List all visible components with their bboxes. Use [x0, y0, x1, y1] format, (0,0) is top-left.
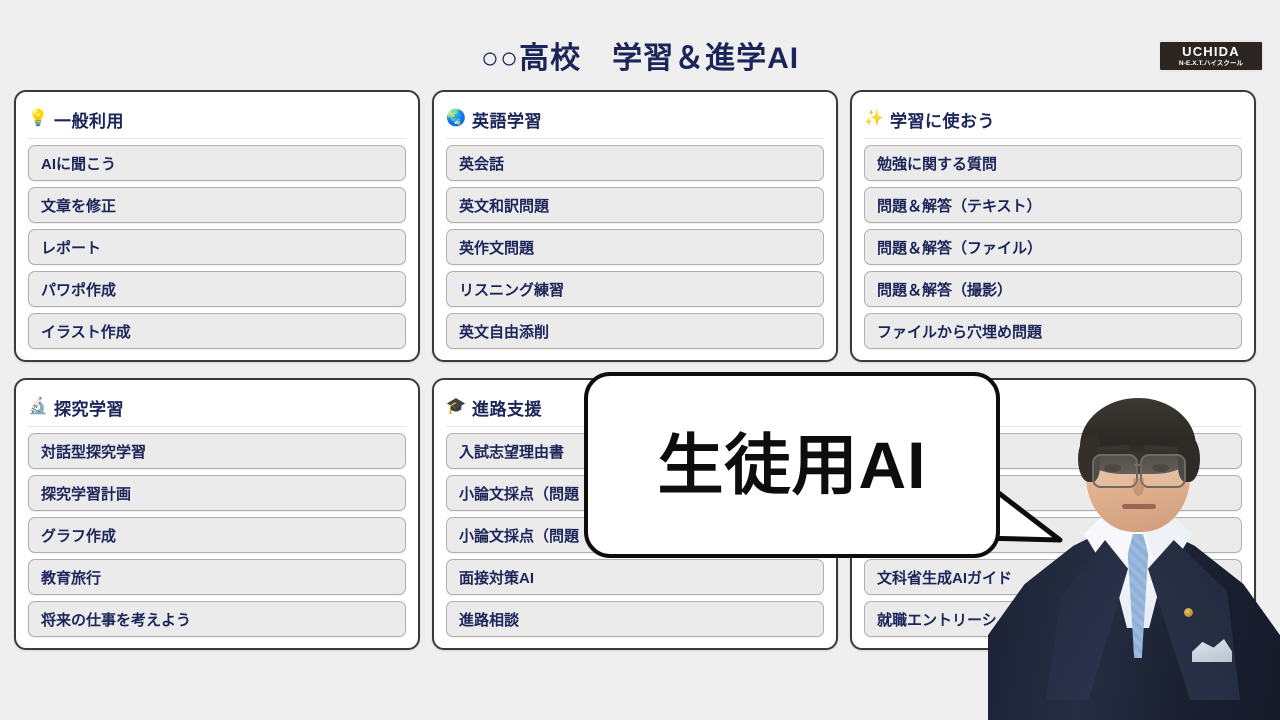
lightbulb-icon: 💡	[28, 111, 46, 127]
menu-item[interactable]: 問題＆解答（ファイル）	[864, 229, 1242, 265]
graduation-cap-icon: 🎓	[446, 399, 464, 415]
lapel-pin	[1184, 608, 1193, 617]
card-header: 🔬 探究学習	[28, 388, 406, 427]
menu-item[interactable]: 入試志望理由書	[446, 433, 824, 469]
menu-item[interactable]: パワポ作成	[28, 271, 406, 307]
page-header: ○○高校 学習＆進学AI UCHIDA N-E.X.T.ハイスクール	[0, 0, 1280, 90]
card-item-list: 勉強に関する質問 問題＆解答（テキスト） 問題＆解答（ファイル） 問題＆解答（撮…	[864, 145, 1242, 349]
menu-item[interactable]: リスニング練習	[446, 271, 824, 307]
card-title: ラシー	[890, 395, 942, 420]
uchida-logo: UCHIDA N-E.X.T.ハイスクール	[1158, 40, 1264, 72]
logo-main-text: UCHIDA	[1182, 45, 1240, 58]
eyeglasses-bridge	[1134, 464, 1142, 466]
card-header: 🌏 英語学習	[446, 100, 824, 139]
menu-item[interactable]: 勉強に関する質問	[864, 145, 1242, 181]
card-header: ✨ 学習に使おう	[864, 100, 1242, 139]
card-item-list: 英会話 英文和訳問題 英作文問題 リスニング練習 英文自由添削	[446, 145, 824, 349]
menu-item[interactable]: 文章を修正	[28, 187, 406, 223]
globe-icon: 🌏	[446, 111, 464, 127]
menu-item[interactable]: グラフ作成	[28, 517, 406, 553]
menu-item[interactable]: 英文自由添削	[446, 313, 824, 349]
sparkles-icon: ✨	[864, 111, 882, 127]
page-title: ○○高校 学習＆進学AI	[0, 44, 1280, 74]
card-inquiry-study: 🔬 探究学習 対話型探究学習 探究学習計画 グラフ作成 教育旅行 将来の仕事を考…	[14, 378, 420, 650]
eyeglasses-lens-right	[1140, 454, 1186, 488]
card-use-for-study: ✨ 学習に使おう 勉強に関する質問 問題＆解答（テキスト） 問題＆解答（ファイル…	[850, 90, 1256, 362]
nose	[1133, 478, 1144, 496]
microscope-icon: 🔬	[28, 399, 46, 415]
card-title: 一般利用	[54, 107, 124, 132]
card-item-list: AIに聞こう 文章を修正 レポート パワポ作成 イラスト作成	[28, 145, 406, 349]
mouth	[1122, 504, 1156, 509]
book-icon: 📖	[864, 399, 882, 415]
eyeglasses-lens-left	[1092, 454, 1138, 488]
menu-item[interactable]: AIに聞こう	[28, 145, 406, 181]
card-english-study: 🌏 英語学習 英会話 英文和訳問題 英作文問題 リスニング練習 英文自由添削	[432, 90, 838, 362]
logo-sub-text: N-E.X.T.ハイスクール	[1179, 59, 1243, 68]
card-title: 進路支援	[472, 395, 542, 420]
menu-item[interactable]: 問題＆解答（テキスト）	[864, 187, 1242, 223]
menu-item[interactable]: 探究学習計画	[28, 475, 406, 511]
card-general-use: 💡 一般利用 AIに聞こう 文章を修正 レポート パワポ作成 イラスト作成	[14, 90, 420, 362]
card-header: 💡 一般利用	[28, 100, 406, 139]
menu-item[interactable]: 英会話	[446, 145, 824, 181]
menu-item[interactable]: 対話型探究学習	[28, 433, 406, 469]
slide-root: ○○高校 学習＆進学AI UCHIDA N-E.X.T.ハイスクール 💡 一般利…	[0, 0, 1280, 720]
card-career-support: 🎓 進路支援 入試志望理由書 小論文採点（問題 小論文採点（問題 面接対策AI …	[432, 378, 838, 650]
card-title: 探究学習	[54, 395, 124, 420]
menu-item[interactable]: 小論文採点（問題	[446, 475, 824, 511]
menu-item[interactable]: 問題＆解答（撮影）	[864, 271, 1242, 307]
menu-item[interactable]: 将来の仕事を考えよう	[28, 601, 406, 637]
menu-item[interactable]: 英文和訳問題	[446, 187, 824, 223]
card-header: 🎓 進路支援	[446, 388, 824, 427]
menu-item[interactable]: レポート	[28, 229, 406, 265]
card-title: 学習に使おう	[890, 107, 995, 132]
card-item-list: 対話型探究学習 探究学習計画 グラフ作成 教育旅行 将来の仕事を考えよう	[28, 433, 406, 637]
menu-item[interactable]: 進路相談	[446, 601, 824, 637]
menu-item[interactable]: イラスト作成	[28, 313, 406, 349]
card-item-list: 入試志望理由書 小論文採点（問題 小論文採点（問題 面接対策AI 進路相談	[446, 433, 824, 637]
card-title: 英語学習	[472, 107, 542, 132]
menu-item[interactable]: 英作文問題	[446, 229, 824, 265]
menu-item[interactable]: ファイルから穴埋め問題	[864, 313, 1242, 349]
menu-item[interactable]: 教育旅行	[28, 559, 406, 595]
person-photo	[988, 392, 1280, 720]
menu-item[interactable]: 面接対策AI	[446, 559, 824, 595]
menu-item[interactable]: 小論文採点（問題	[446, 517, 824, 553]
